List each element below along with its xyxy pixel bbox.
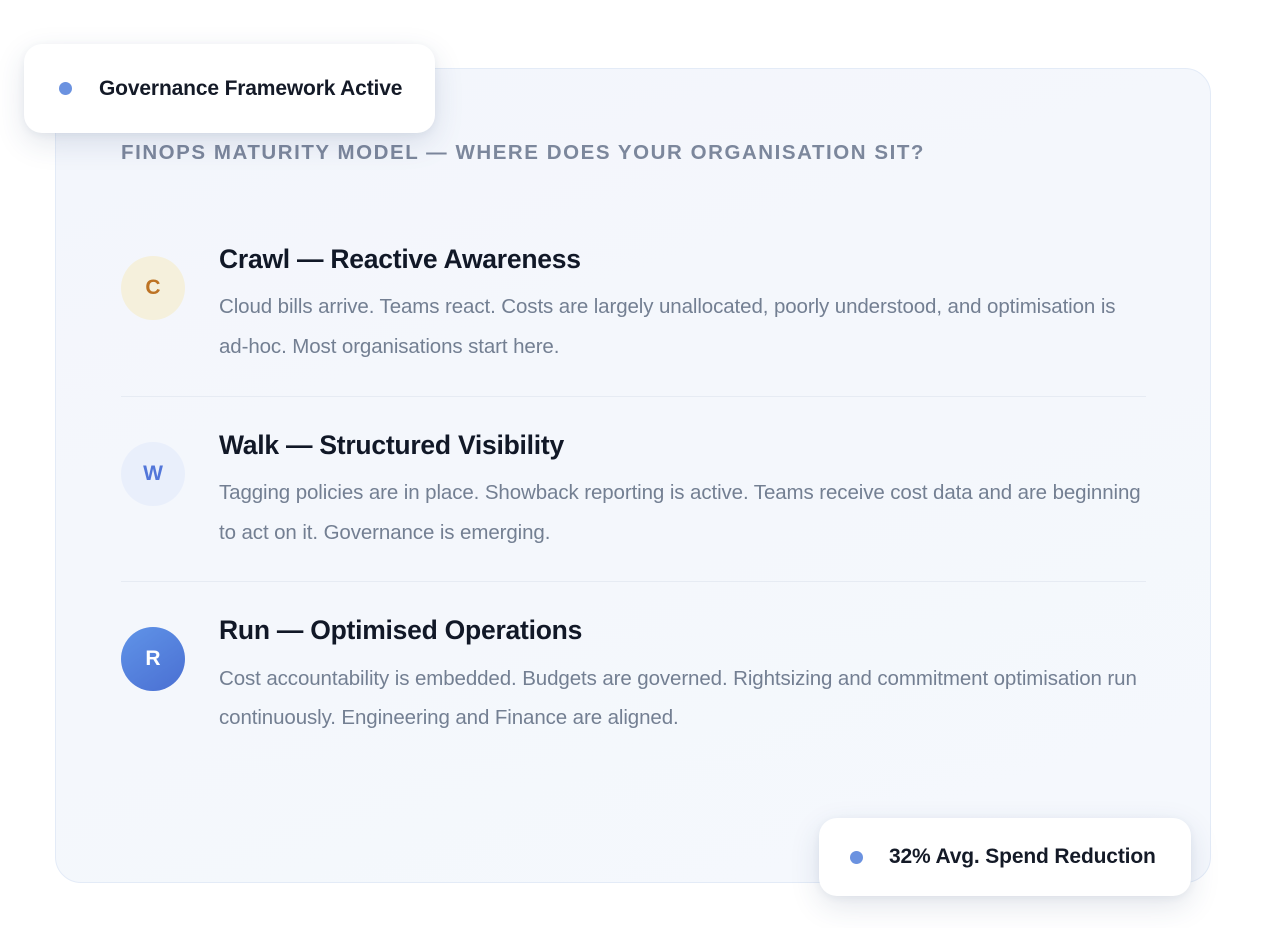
stage-body-walk: Walk — Structured Visibility Tagging pol…	[185, 425, 1147, 553]
badge-reduction-label: 32% Avg. Spend Reduction	[889, 845, 1156, 869]
stage-title-run: Run — Optimised Operations	[219, 615, 1147, 645]
screenshot-root: FinOps Maturity Model — Where does your …	[0, 0, 1278, 928]
page-title: FinOps Maturity Model — Where does your …	[121, 141, 925, 165]
avatar-walk: W	[121, 442, 185, 506]
stage-description-run: Cost accountability is embedded. Budgets…	[219, 659, 1147, 738]
divider	[121, 396, 1146, 397]
finops-maturity-card: FinOps Maturity Model — Where does your …	[55, 68, 1211, 883]
badge-governance-framework[interactable]: Governance Framework Active	[24, 44, 435, 133]
stage-body-run: Run — Optimised Operations Cost accounta…	[185, 610, 1147, 738]
status-dot-icon	[59, 82, 72, 95]
stage-row-run[interactable]: R Run — Optimised Operations Cost accoun…	[121, 610, 1147, 738]
stage-description-walk: Tagging policies are in place. Showback …	[219, 473, 1147, 552]
stage-description-crawl: Cloud bills arrive. Teams react. Costs a…	[219, 287, 1147, 366]
divider	[121, 581, 1146, 582]
status-dot-icon	[850, 851, 863, 864]
avatar-run: R	[121, 627, 185, 691]
stage-body-crawl: Crawl — Reactive Awareness Cloud bills a…	[185, 239, 1147, 367]
badge-governance-label: Governance Framework Active	[99, 77, 402, 101]
avatar-crawl: C	[121, 256, 185, 320]
badge-spend-reduction[interactable]: 32% Avg. Spend Reduction	[819, 818, 1191, 896]
stage-title-crawl: Crawl — Reactive Awareness	[219, 244, 1147, 274]
maturity-stage-list: C Crawl — Reactive Awareness Cloud bills…	[121, 239, 1147, 738]
stage-row-walk[interactable]: W Walk — Structured Visibility Tagging p…	[121, 425, 1147, 553]
stage-title-walk: Walk — Structured Visibility	[219, 430, 1147, 460]
stage-row-crawl[interactable]: C Crawl — Reactive Awareness Cloud bills…	[121, 239, 1147, 367]
